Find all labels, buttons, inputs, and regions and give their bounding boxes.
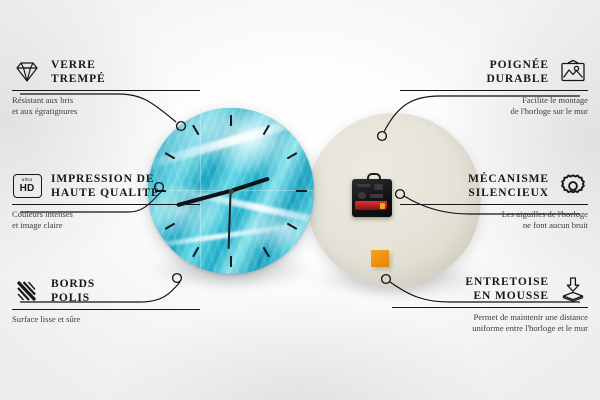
feature-header: VERRE TREMPÉ [12,58,200,86]
feature-header: ultra HD IMPRESSION DE HAUTE QUALITÉ [12,172,200,200]
feature-title: ENTRETOISE EN MOUSSE [465,275,549,303]
feature-divider [392,307,588,308]
polished-edges-icon [12,277,42,305]
mechanism-battery [355,201,387,210]
feature-title: POIGNÉE DURABLE [486,58,549,86]
feature-divider [12,90,200,91]
ultra-hd-icon: ultra HD [12,172,42,200]
feature-description: Couleurs intenses et image claire [12,209,200,231]
feature-header: BORDS POLIS [12,277,200,305]
feature-divider [400,204,588,205]
feature-divider [12,309,200,310]
feature-impression-haute-qualite: ultra HD IMPRESSION DE HAUTE QUALITÉ Cou… [12,172,200,231]
infographic-canvas: VERRE TREMPÉ Résistant aux bris et aux é… [0,0,600,400]
feature-verre-trempe: VERRE TREMPÉ Résistant aux bris et aux é… [12,58,200,117]
feature-description: Permet de maintenir une distance uniform… [392,312,588,334]
mechanism-vent [357,184,371,187]
feature-description: Facilite le montage de l'horloge sur le … [400,95,588,117]
feature-header: MÉCANISME SILENCIEUX [400,172,588,200]
mechanism-vent [374,184,383,190]
feature-description: Les aiguilles de l'horloge ne font aucun… [400,209,588,231]
mechanism-vent [370,194,383,198]
hour-marker [296,190,307,192]
feature-title: BORDS POLIS [51,277,95,305]
diamond-icon [12,58,42,86]
mechanism-housing [352,179,392,217]
ultra-hd-badge: ultra HD [13,174,42,198]
foam-spacer-icon [558,275,588,303]
feature-header: ENTRETOISE EN MOUSSE [392,275,588,303]
feature-title: IMPRESSION DE HAUTE QUALITÉ [51,172,160,200]
mechanism-vent [358,192,366,199]
picture-frame-hanger-icon [558,58,588,86]
clock-mechanism [352,173,392,217]
feature-title: MÉCANISME SILENCIEUX [468,172,549,200]
feature-divider [12,204,200,205]
feature-bords-polis: BORDS POLIS Surface lisse et sûre [12,277,200,325]
feature-divider [400,90,588,91]
feature-poignee-durable: POIGNÉE DURABLE Facilite le montage de l… [400,58,588,117]
gear-icon [558,172,588,200]
hour-marker [230,115,232,126]
feature-description: Surface lisse et sûre [12,314,200,325]
hour-marker [230,256,232,267]
feature-entretoise-en-mousse: ENTRETOISE EN MOUSSE Permet de maintenir… [392,275,588,334]
clock-center-hub [229,189,234,194]
foam-spacer-part [371,250,389,267]
feature-description: Résistant aux bris et aux égratignures [12,95,200,117]
feature-mecanisme-silencieux: MÉCANISME SILENCIEUX Les aiguilles de l'… [400,172,588,231]
feature-title: VERRE TREMPÉ [51,58,106,86]
feature-header: POIGNÉE DURABLE [400,58,588,86]
ultra-hd-large-label: HD [20,184,35,194]
